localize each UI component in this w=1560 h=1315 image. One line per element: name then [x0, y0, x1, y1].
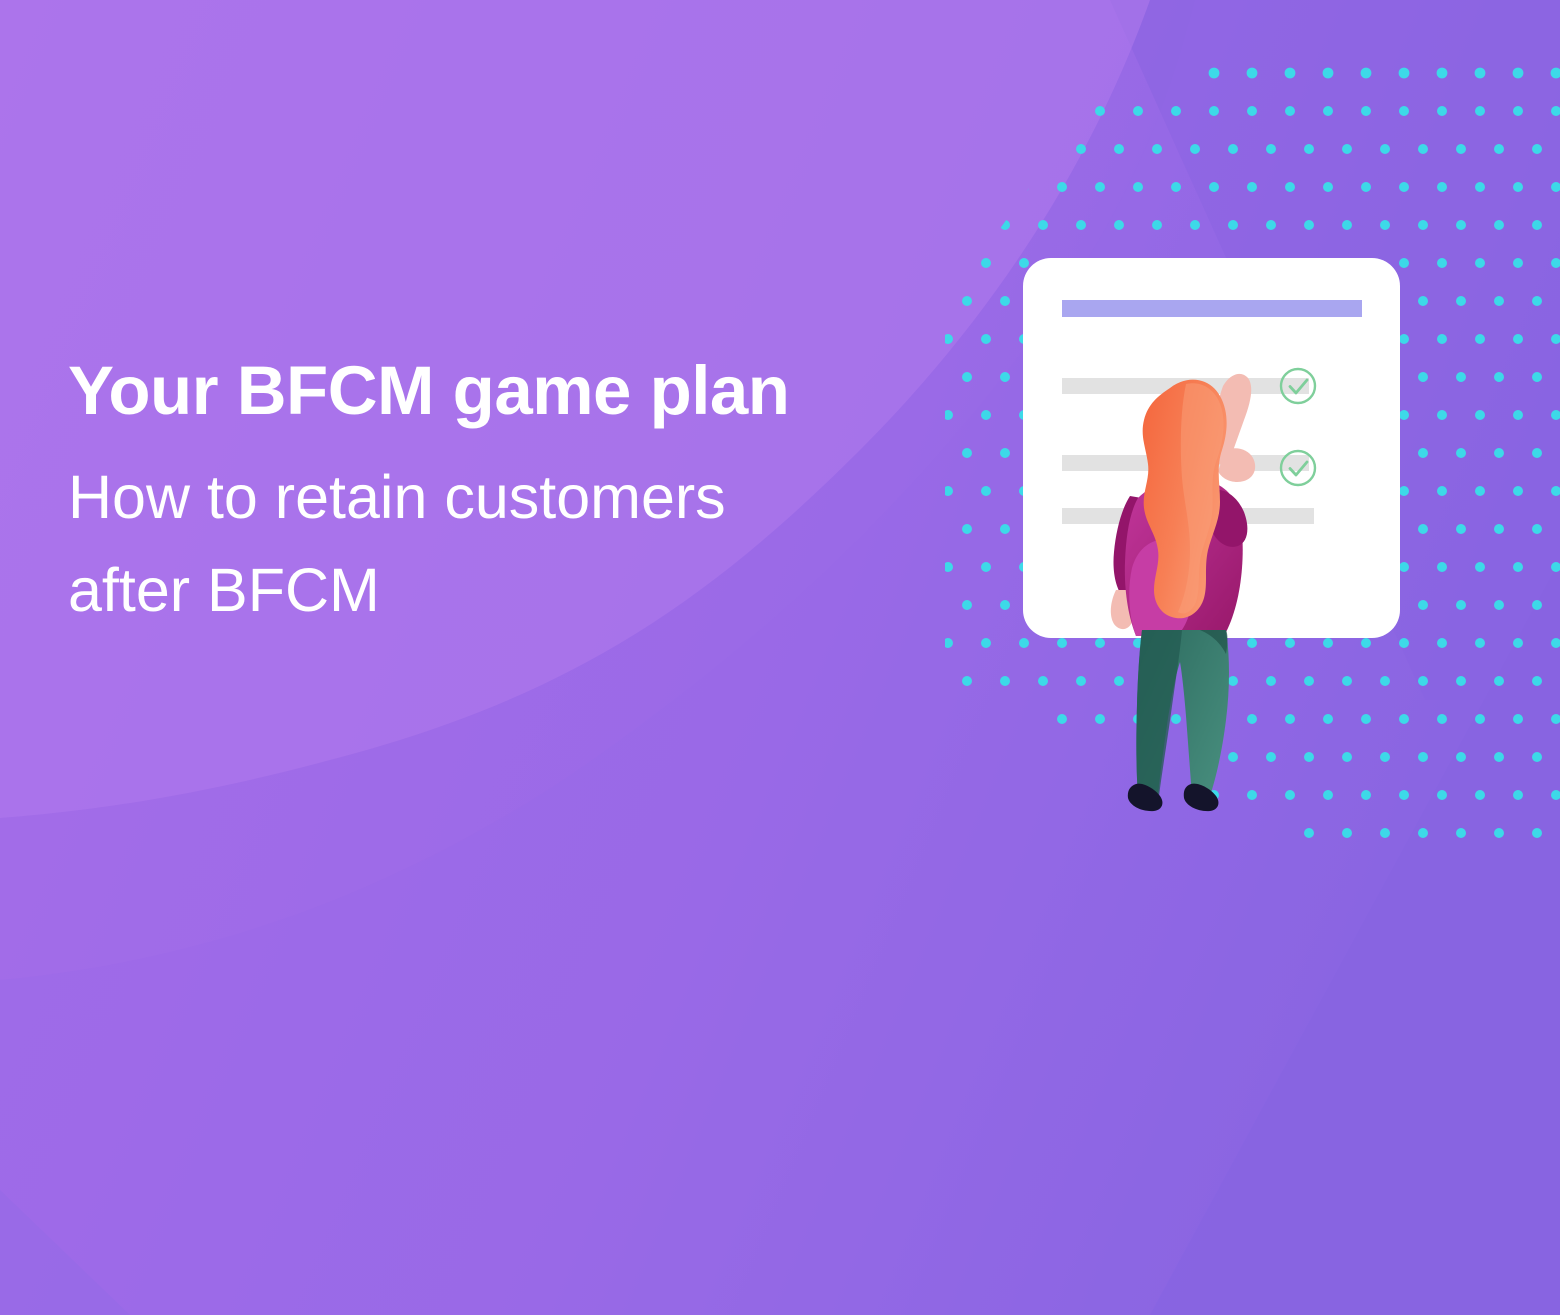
- banner-copy: Your BFCM game plan How to retain custom…: [68, 352, 928, 637]
- figure-legs-shadow: [1136, 630, 1182, 796]
- bfcm-promo-banner: Your BFCM game plan How to retain custom…: [0, 0, 1560, 1315]
- card-title-bar: [1062, 300, 1362, 317]
- page-subtitle: How to retain customers after BFCM: [68, 451, 858, 636]
- page-title: Your BFCM game plan: [68, 352, 928, 429]
- checklist-illustration: [1010, 250, 1430, 830]
- figure-shoe-right: [1184, 784, 1219, 811]
